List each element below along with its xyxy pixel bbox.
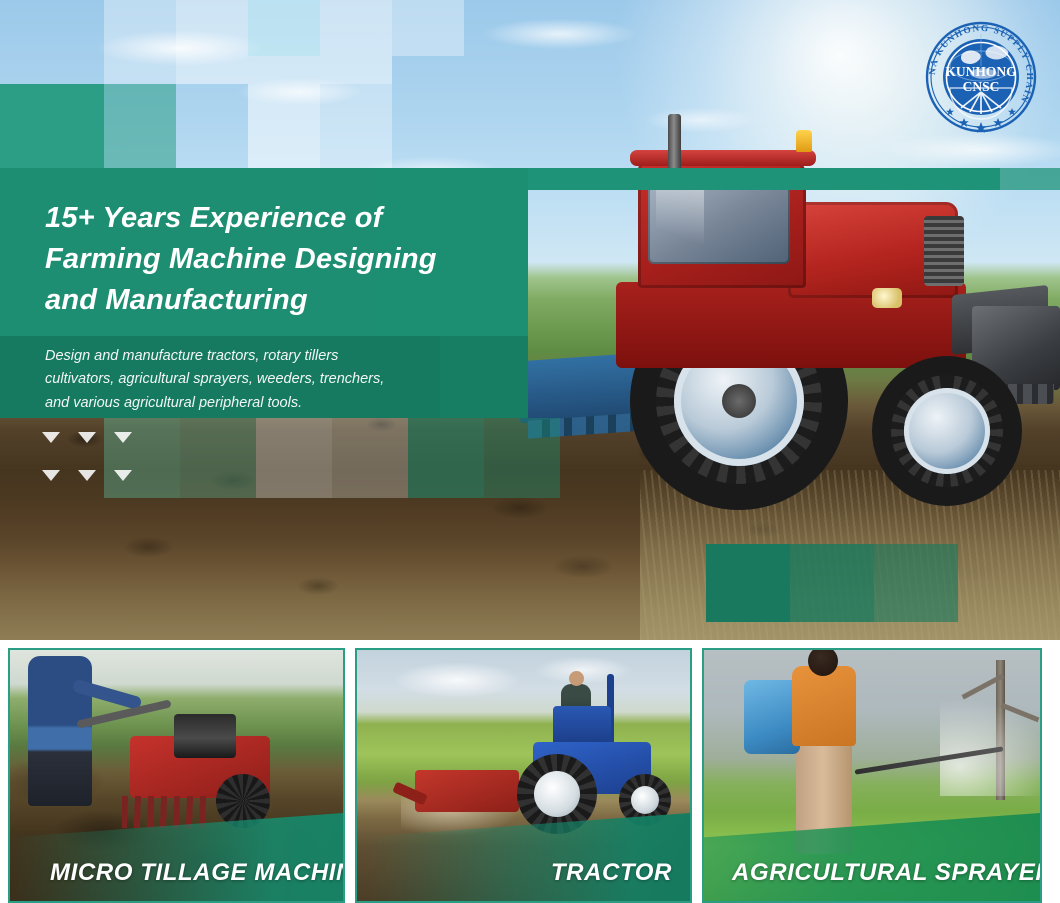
tractor-grille [924, 216, 964, 286]
hero-section: 15+ Years Experience of Farming Machine … [0, 0, 1060, 640]
triangle-down-icon [42, 470, 60, 481]
product-card-micro-tillage-machine[interactable]: MICRO TILLAGE MACHINE [8, 648, 345, 903]
triangle-down-icon [78, 470, 96, 481]
teal-block-solid [0, 84, 104, 168]
card-caption: AGRICULTURAL SPRAYER [732, 859, 1042, 887]
card-caption: TRACTOR [551, 859, 672, 887]
product-card-agricultural-sprayer[interactable]: AGRICULTURAL SPRAYER [702, 648, 1042, 903]
green-band-tail [1000, 168, 1060, 190]
promo-banner: 15+ Years Experience of Farming Machine … [0, 0, 1060, 903]
tractor-headlight [872, 288, 902, 308]
company-logo: KUNHONG CNSC CHINA KUNHONG SUPPLY CHAIN [918, 14, 1044, 140]
triangle-down-icon [114, 470, 132, 481]
triangle-down-icon [114, 432, 132, 443]
triangle-down-icon [42, 432, 60, 443]
green-square-light [874, 544, 958, 622]
green-square-medium [790, 544, 874, 622]
page-subtitle: Design and manufacture tractors, rotary … [45, 345, 465, 415]
green-square-solid [706, 544, 790, 622]
logo-center-line2: CNSC [963, 79, 1000, 94]
product-card-tractor[interactable]: TRACTOR [355, 648, 692, 903]
lower-tile-band [0, 418, 1000, 498]
teal-block-soft [104, 84, 176, 168]
logo-center-line1: KUNHONG [945, 64, 1017, 79]
product-card-row: MICRO TILLAGE MACHINE TRACTOR [0, 648, 1060, 903]
triangle-down-icon [78, 432, 96, 443]
card-caption: MICRO TILLAGE MACHINE [50, 859, 345, 887]
page-title: 15+ Years Experience of Farming Machine … [45, 198, 515, 322]
